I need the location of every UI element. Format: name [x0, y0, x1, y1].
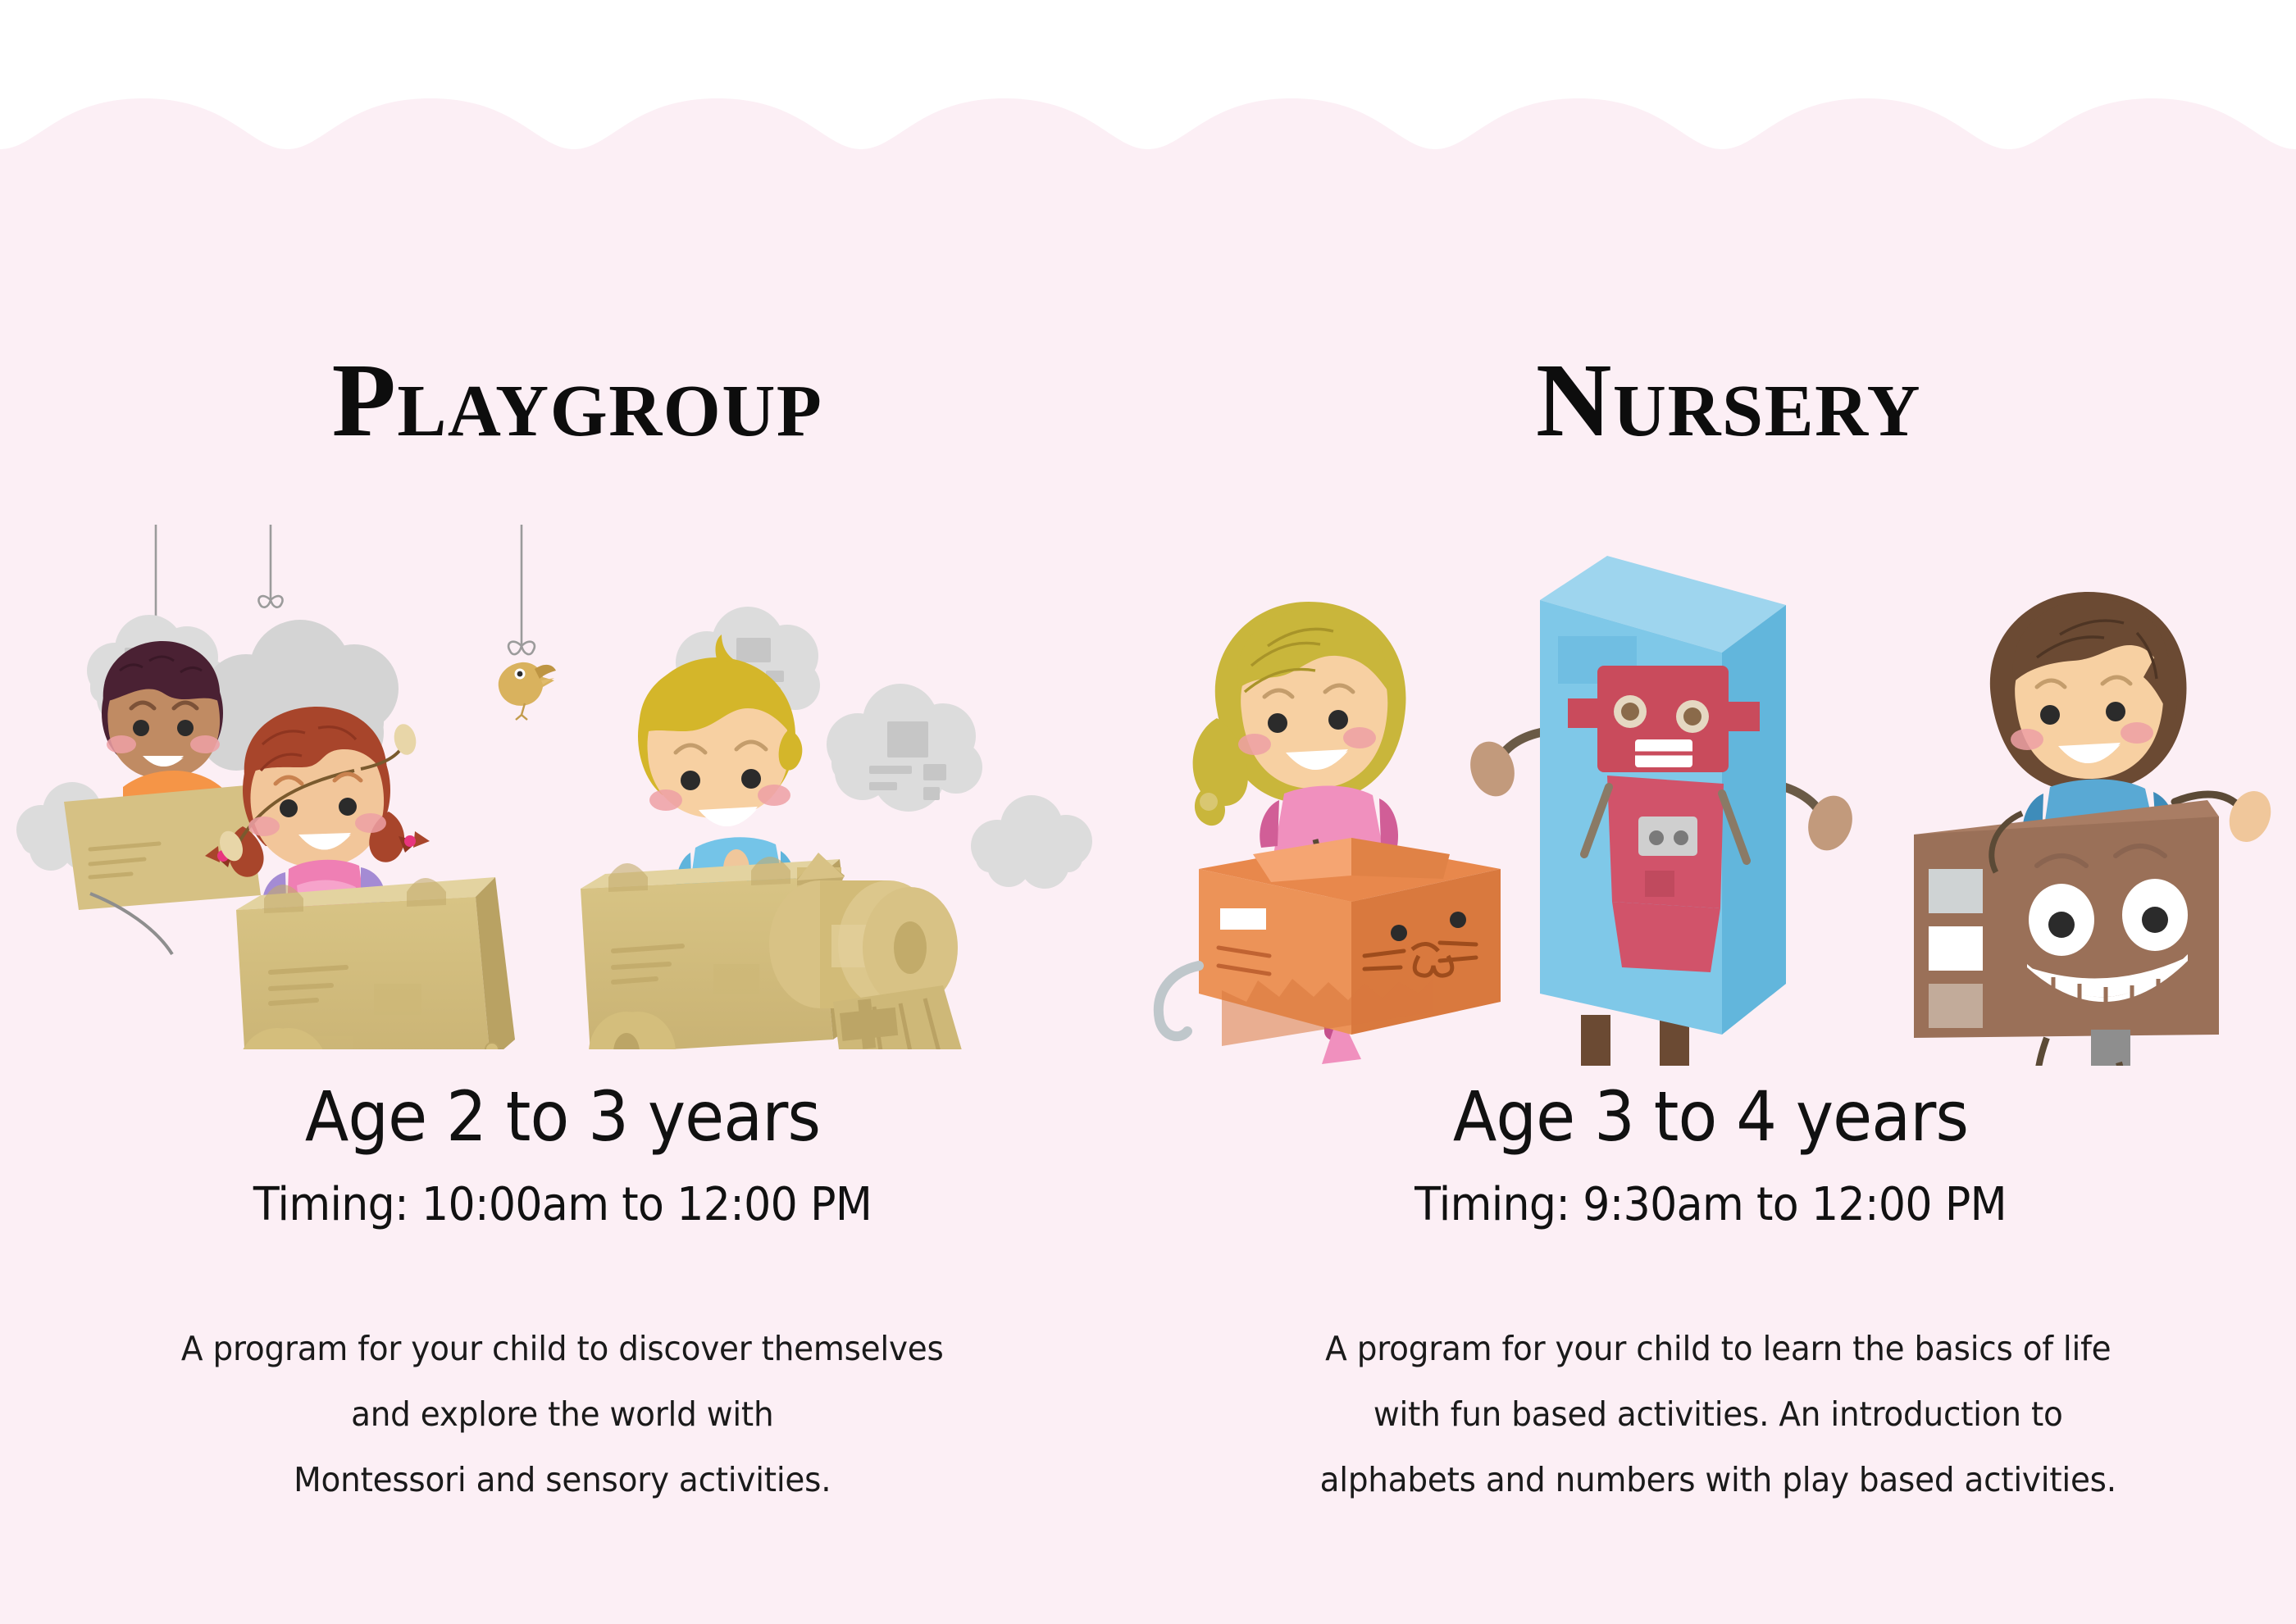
description-line: A program for your child to discover the…: [115, 1316, 1011, 1381]
mobile-strings-icon: [156, 525, 522, 646]
cardboard-train-illustration-icon: [0, 525, 1148, 1049]
age-range-nursery: Age 3 to 4 years: [1188, 1082, 2256, 1151]
illustration-kids-in-cardboard-costumes: [1148, 541, 2296, 1066]
description-line: Montessori and sensory activities.: [115, 1447, 1011, 1513]
program-card-nursery: Nursery: [1148, 0, 2296, 1624]
description-line: A program for your child to learn the ba…: [1255, 1316, 2182, 1381]
cloud-icon: [971, 795, 1092, 889]
child-with-cat-box: [1159, 602, 1501, 1064]
program-card-playgroup: Playgroup: [0, 0, 1148, 1624]
cardboard-wagon: [236, 877, 515, 1049]
robot-box-costume: [1464, 556, 1859, 1066]
description-line: and explore the world with: [115, 1381, 1011, 1447]
description-line: with fun based activities. An introducti…: [1255, 1381, 2182, 1447]
cardboard-costumes-illustration-icon: [1148, 541, 2296, 1066]
age-range-playgroup: Age 2 to 3 years: [40, 1082, 1108, 1151]
description-nursery: A program for your child to learn the ba…: [1177, 1316, 2267, 1513]
description-playgroup: A program for your child to discover the…: [29, 1316, 1119, 1513]
timing-playgroup: Timing: 10:00am to 12:00 PM: [40, 1182, 1108, 1228]
cardboard-engine: [581, 853, 969, 1049]
bird-icon: [499, 662, 556, 720]
program-columns: Playgroup: [0, 0, 2296, 1624]
description-line: alphabets and numbers with play based ac…: [1255, 1447, 2182, 1513]
program-title-nursery: Nursery: [1148, 348, 2296, 453]
illustration-kids-in-cardboard-train: [0, 525, 1148, 1049]
paper-cloud-icon: [827, 684, 982, 812]
child-with-face-box: [1914, 592, 2278, 1066]
timing-nursery: Timing: 9:30am to 12:00 PM: [1188, 1182, 2256, 1228]
program-title-playgroup: Playgroup: [0, 348, 1148, 453]
